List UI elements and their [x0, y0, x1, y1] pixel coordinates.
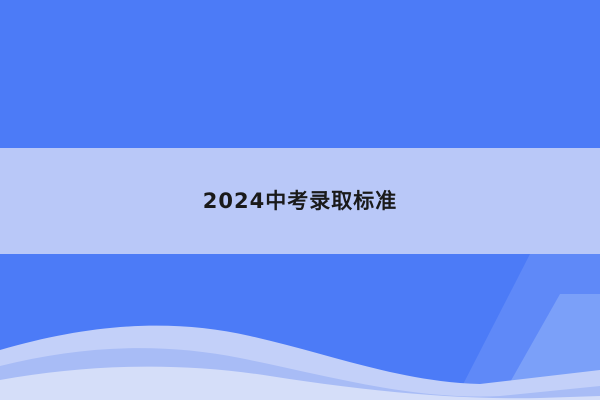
page-title: 2024中考录取标准 — [203, 191, 397, 212]
wave-decoration-icon — [0, 254, 600, 400]
bottom-wave-band — [0, 254, 600, 400]
title-band: 2024中考录取标准 — [0, 148, 600, 254]
image-canvas: 2024中考录取标准 — [0, 0, 600, 400]
top-color-band — [0, 0, 600, 148]
